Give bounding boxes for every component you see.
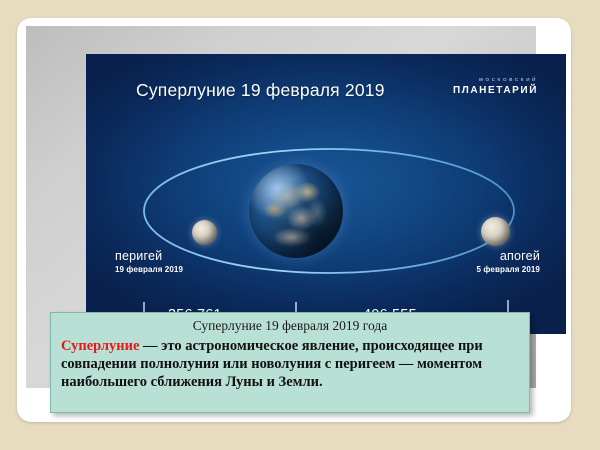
supermoon-diagram-image: Суперлуние 19 февраля 2019 МОСКОВСКИЙ ПЛ… bbox=[86, 54, 566, 334]
caption-term: Суперлуние bbox=[61, 338, 139, 354]
perigee-label-name: перигей bbox=[115, 249, 183, 263]
perigee-label: перигей 19 февраля 2019 bbox=[115, 249, 183, 275]
slide-canvas: Суперлуние 19 февраля 2019 МОСКОВСКИЙ ПЛ… bbox=[0, 0, 600, 450]
caption-textbox: Суперлуние 19 февраля 2019 года Суперлун… bbox=[50, 312, 530, 413]
caption-heading: Суперлуние 19 февраля 2019 года bbox=[61, 318, 519, 335]
perigee-label-date: 19 февраля 2019 bbox=[115, 265, 183, 274]
apogee-label-name: апогей bbox=[477, 249, 540, 263]
moon-at-apogee bbox=[481, 217, 510, 246]
apogee-label: апогей 5 февраля 2019 bbox=[477, 249, 540, 275]
earth-globe bbox=[249, 164, 343, 258]
moon-at-perigee bbox=[192, 220, 217, 245]
apogee-label-date: 5 февраля 2019 bbox=[477, 265, 540, 274]
caption-body: Суперлуние — это астрономическое явление… bbox=[61, 338, 519, 392]
